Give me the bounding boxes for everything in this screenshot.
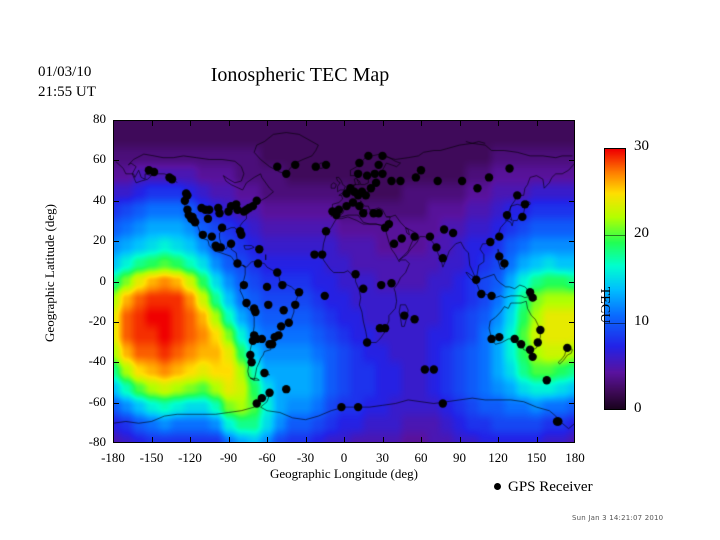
gps-receiver-marker-icon bbox=[494, 483, 501, 490]
render-timestamp: Sun Jan 3 14:21:07 2010 bbox=[572, 514, 663, 522]
x-tick-mark bbox=[152, 120, 153, 126]
colorbar-tick-label: 0 bbox=[634, 400, 642, 417]
colorbar-tick-label: 30 bbox=[634, 138, 649, 155]
x-tick-mark bbox=[229, 120, 230, 126]
x-tick-mark bbox=[383, 120, 384, 126]
y-tick-mark bbox=[113, 160, 119, 161]
y-tick-mark bbox=[113, 241, 119, 242]
y-tick-mark bbox=[569, 201, 575, 202]
x-tick-mark bbox=[460, 437, 461, 443]
y-tick-label: -20 bbox=[66, 313, 106, 329]
y-tick-label: 40 bbox=[66, 192, 106, 208]
colorbar-tick-label: 20 bbox=[634, 225, 649, 242]
y-tick-mark bbox=[113, 403, 119, 404]
tec-map-plot bbox=[113, 120, 575, 443]
y-tick-mark bbox=[113, 282, 119, 283]
y-tick-mark bbox=[113, 322, 119, 323]
x-tick-mark bbox=[498, 437, 499, 443]
x-tick-mark bbox=[229, 437, 230, 443]
x-tick-mark bbox=[421, 437, 422, 443]
x-tick-mark bbox=[383, 437, 384, 443]
y-tick-mark bbox=[569, 362, 575, 363]
colorbar-title: TECU bbox=[596, 245, 612, 365]
x-tick-mark bbox=[344, 437, 345, 443]
y-tick-mark bbox=[569, 403, 575, 404]
y-tick-mark bbox=[569, 282, 575, 283]
y-tick-mark bbox=[113, 362, 119, 363]
page-title: Ionospheric TEC Map bbox=[0, 64, 600, 87]
y-tick-label: 0 bbox=[66, 273, 106, 289]
y-tick-label: 80 bbox=[66, 111, 106, 127]
y-axis-title: Geographic Latitude (deg) bbox=[42, 163, 58, 383]
x-tick-mark bbox=[344, 120, 345, 126]
y-tick-mark bbox=[569, 241, 575, 242]
x-tick-mark bbox=[421, 120, 422, 126]
y-tick-label: -40 bbox=[66, 353, 106, 369]
y-tick-mark bbox=[113, 201, 119, 202]
y-tick-label: 60 bbox=[66, 151, 106, 167]
colorbar-tick-mark bbox=[604, 235, 626, 236]
tec-heatmap-canvas bbox=[113, 120, 575, 443]
y-tick-label: -60 bbox=[66, 394, 106, 410]
x-tick-mark bbox=[306, 120, 307, 126]
y-tick-mark bbox=[569, 322, 575, 323]
x-tick-mark bbox=[190, 120, 191, 126]
x-tick-label: 180 bbox=[550, 450, 600, 466]
gps-receiver-legend-label: GPS Receiver bbox=[508, 479, 593, 495]
gps-receiver-legend: GPS Receiver bbox=[494, 479, 593, 496]
x-tick-mark bbox=[537, 120, 538, 126]
y-tick-label: -80 bbox=[66, 434, 106, 450]
x-tick-mark bbox=[267, 437, 268, 443]
x-tick-mark bbox=[537, 437, 538, 443]
x-tick-mark bbox=[152, 437, 153, 443]
y-tick-mark bbox=[569, 160, 575, 161]
x-tick-mark bbox=[306, 437, 307, 443]
y-tick-label: 20 bbox=[66, 232, 106, 248]
colorbar-tick-label: 10 bbox=[634, 313, 649, 330]
x-tick-mark bbox=[460, 120, 461, 126]
x-tick-mark bbox=[190, 437, 191, 443]
x-tick-mark bbox=[498, 120, 499, 126]
x-tick-mark bbox=[267, 120, 268, 126]
